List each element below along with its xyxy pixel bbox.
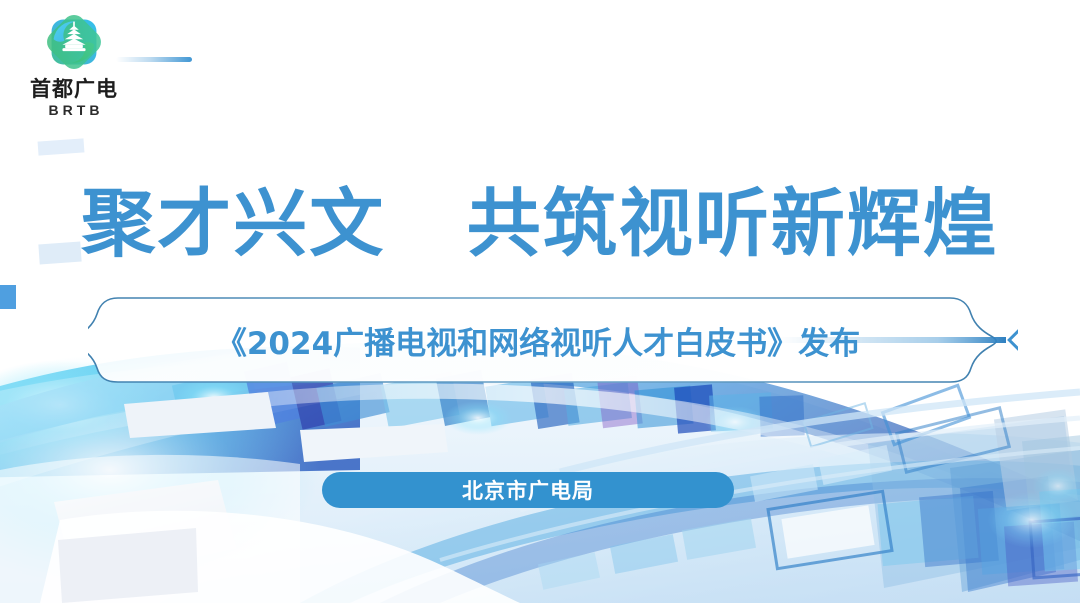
title-part-2: 共筑视听新辉煌: [467, 181, 999, 267]
top-gradient-rule: [116, 57, 192, 62]
subtitle-text: 《2024广播电视和网络视听人才白皮书》发布: [88, 296, 1018, 384]
subtitle-banner: 《2024广播电视和网络视听人才白皮书》发布: [88, 296, 1018, 384]
title-part-1: 聚才兴文: [81, 181, 385, 267]
brtb-logo: 首都广电 BRTB: [14, 8, 134, 119]
logo-chinese-name: 首都广电: [14, 77, 134, 101]
page-title: 聚才兴文 共筑视听新辉煌: [0, 186, 1080, 264]
brtb-pagoda-emblem: [38, 8, 110, 76]
organization-name: 北京市广电局: [462, 475, 594, 505]
poster-canvas: 首都广电 BRTB 聚才兴文 共筑视听新辉煌: [0, 0, 1080, 603]
logo-english-name: BRTB: [14, 102, 134, 119]
organization-badge: 北京市广电局: [322, 472, 734, 508]
